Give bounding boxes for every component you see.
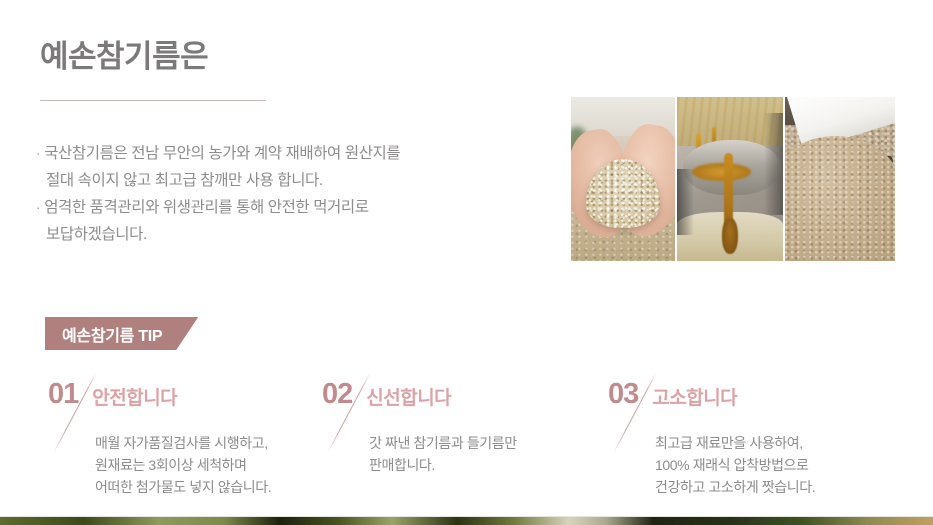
tip-body-line: 어떠한 첨가물도 넣지 않습니다. (95, 476, 318, 498)
tip-body: 최고급 재료만을 사용하여, 100% 재래식 압착방법으로 건강하고 고소하게… (655, 432, 888, 498)
tip-body-line: 건강하고 고소하게 짯습니다. (655, 476, 888, 498)
intro-line-text: 보답하겠습니다. (46, 226, 147, 243)
tip-header: 03 고소합니다 (608, 378, 888, 420)
tip-item-01: 01 안전합니다 매월 자가품질검사를 시행하고, 원재료는 3회이상 세척하며… (48, 378, 318, 498)
photo-pile-of-sesame-seeds (785, 97, 895, 261)
photo-oil-pool (692, 163, 751, 181)
tip-title: 신선합니다 (366, 383, 451, 410)
tip-header: 01 안전합니다 (48, 378, 318, 420)
tip-body-line: 갓 짜낸 참기름과 들기름만 (369, 432, 592, 454)
tip-item-03: 03 고소합니다 최고급 재료만을 사용하여, 100% 재래식 압착방법으로 … (608, 378, 888, 498)
tip-body-line: 100% 재래식 압착방법으로 (655, 454, 888, 476)
next-section-photo-sliver (0, 517, 933, 525)
bullet-icon: · (36, 145, 40, 161)
tip-number: 03 (608, 378, 638, 410)
intro-line: · 엄격한 품격관리와 위생관리를 통해 안전한 먹거리로 (36, 194, 566, 221)
intro-line: · 국산참기름은 전남 무안의 농가와 계약 재배하여 원산지를 (36, 140, 566, 167)
tip-body: 매월 자가품질검사를 시행하고, 원재료는 3회이상 세척하며 어떠한 첨가물도… (95, 432, 318, 498)
tip-body-line: 매월 자가품질검사를 시행하고, (95, 432, 318, 454)
intro-line: 보답하겠습니다. (36, 221, 566, 248)
photo-strip (571, 97, 895, 261)
photo-seed-mound (785, 136, 895, 261)
product-detail-page: 예손참기름은 · 국산참기름은 전남 무안의 농가와 계약 재배하여 원산지를 … (0, 0, 933, 525)
photo-hands-holding-sesame-seeds (571, 97, 675, 261)
photo-sesame-oil-pressing-machine (677, 97, 783, 261)
photo-oil-drop (722, 218, 738, 254)
bullet-icon: · (36, 199, 40, 215)
tip-body-line: 원재료는 3회이상 세척하며 (95, 454, 318, 476)
intro-line-text: 절대 속이지 않고 최고급 참깨만 사용 합니다. (46, 172, 323, 189)
page-title: 예손참기름은 (40, 38, 208, 75)
tip-ribbon-badge: 예손참기름 TIP (45, 317, 198, 350)
tip-title: 고소합니다 (652, 383, 737, 410)
tip-item-02: 02 신선합니다 갓 짜낸 참기름과 들기름만 판매합니다. (322, 378, 592, 476)
tip-title: 안전합니다 (92, 383, 177, 410)
tip-header: 02 신선합니다 (322, 378, 592, 420)
tip-number: 01 (48, 378, 78, 410)
tip-ribbon-label: 예손참기름 TIP (62, 322, 162, 346)
title-divider (40, 100, 266, 101)
tip-number: 02 (322, 378, 352, 410)
photo-shadow (764, 113, 783, 215)
intro-line-text: 국산참기름은 전남 무안의 농가와 계약 재배하여 원산지를 (44, 145, 400, 162)
tip-body: 갓 짜낸 참기름과 들기름만 판매합니다. (369, 432, 592, 476)
photo-shadow (677, 169, 694, 235)
tip-body-line: 판매합니다. (369, 454, 592, 476)
intro-paragraph: · 국산참기름은 전남 무안의 농가와 계약 재배하여 원산지를 절대 속이지 … (36, 140, 566, 248)
tip-body-line: 최고급 재료만을 사용하여, (655, 432, 888, 454)
intro-line-text: 엄격한 품격관리와 위생관리를 통해 안전한 먹거리로 (44, 199, 368, 216)
tips-section: 01 안전합니다 매월 자가품질검사를 시행하고, 원재료는 3회이상 세척하며… (0, 378, 933, 508)
intro-line: 절대 속이지 않고 최고급 참깨만 사용 합니다. (36, 167, 566, 194)
